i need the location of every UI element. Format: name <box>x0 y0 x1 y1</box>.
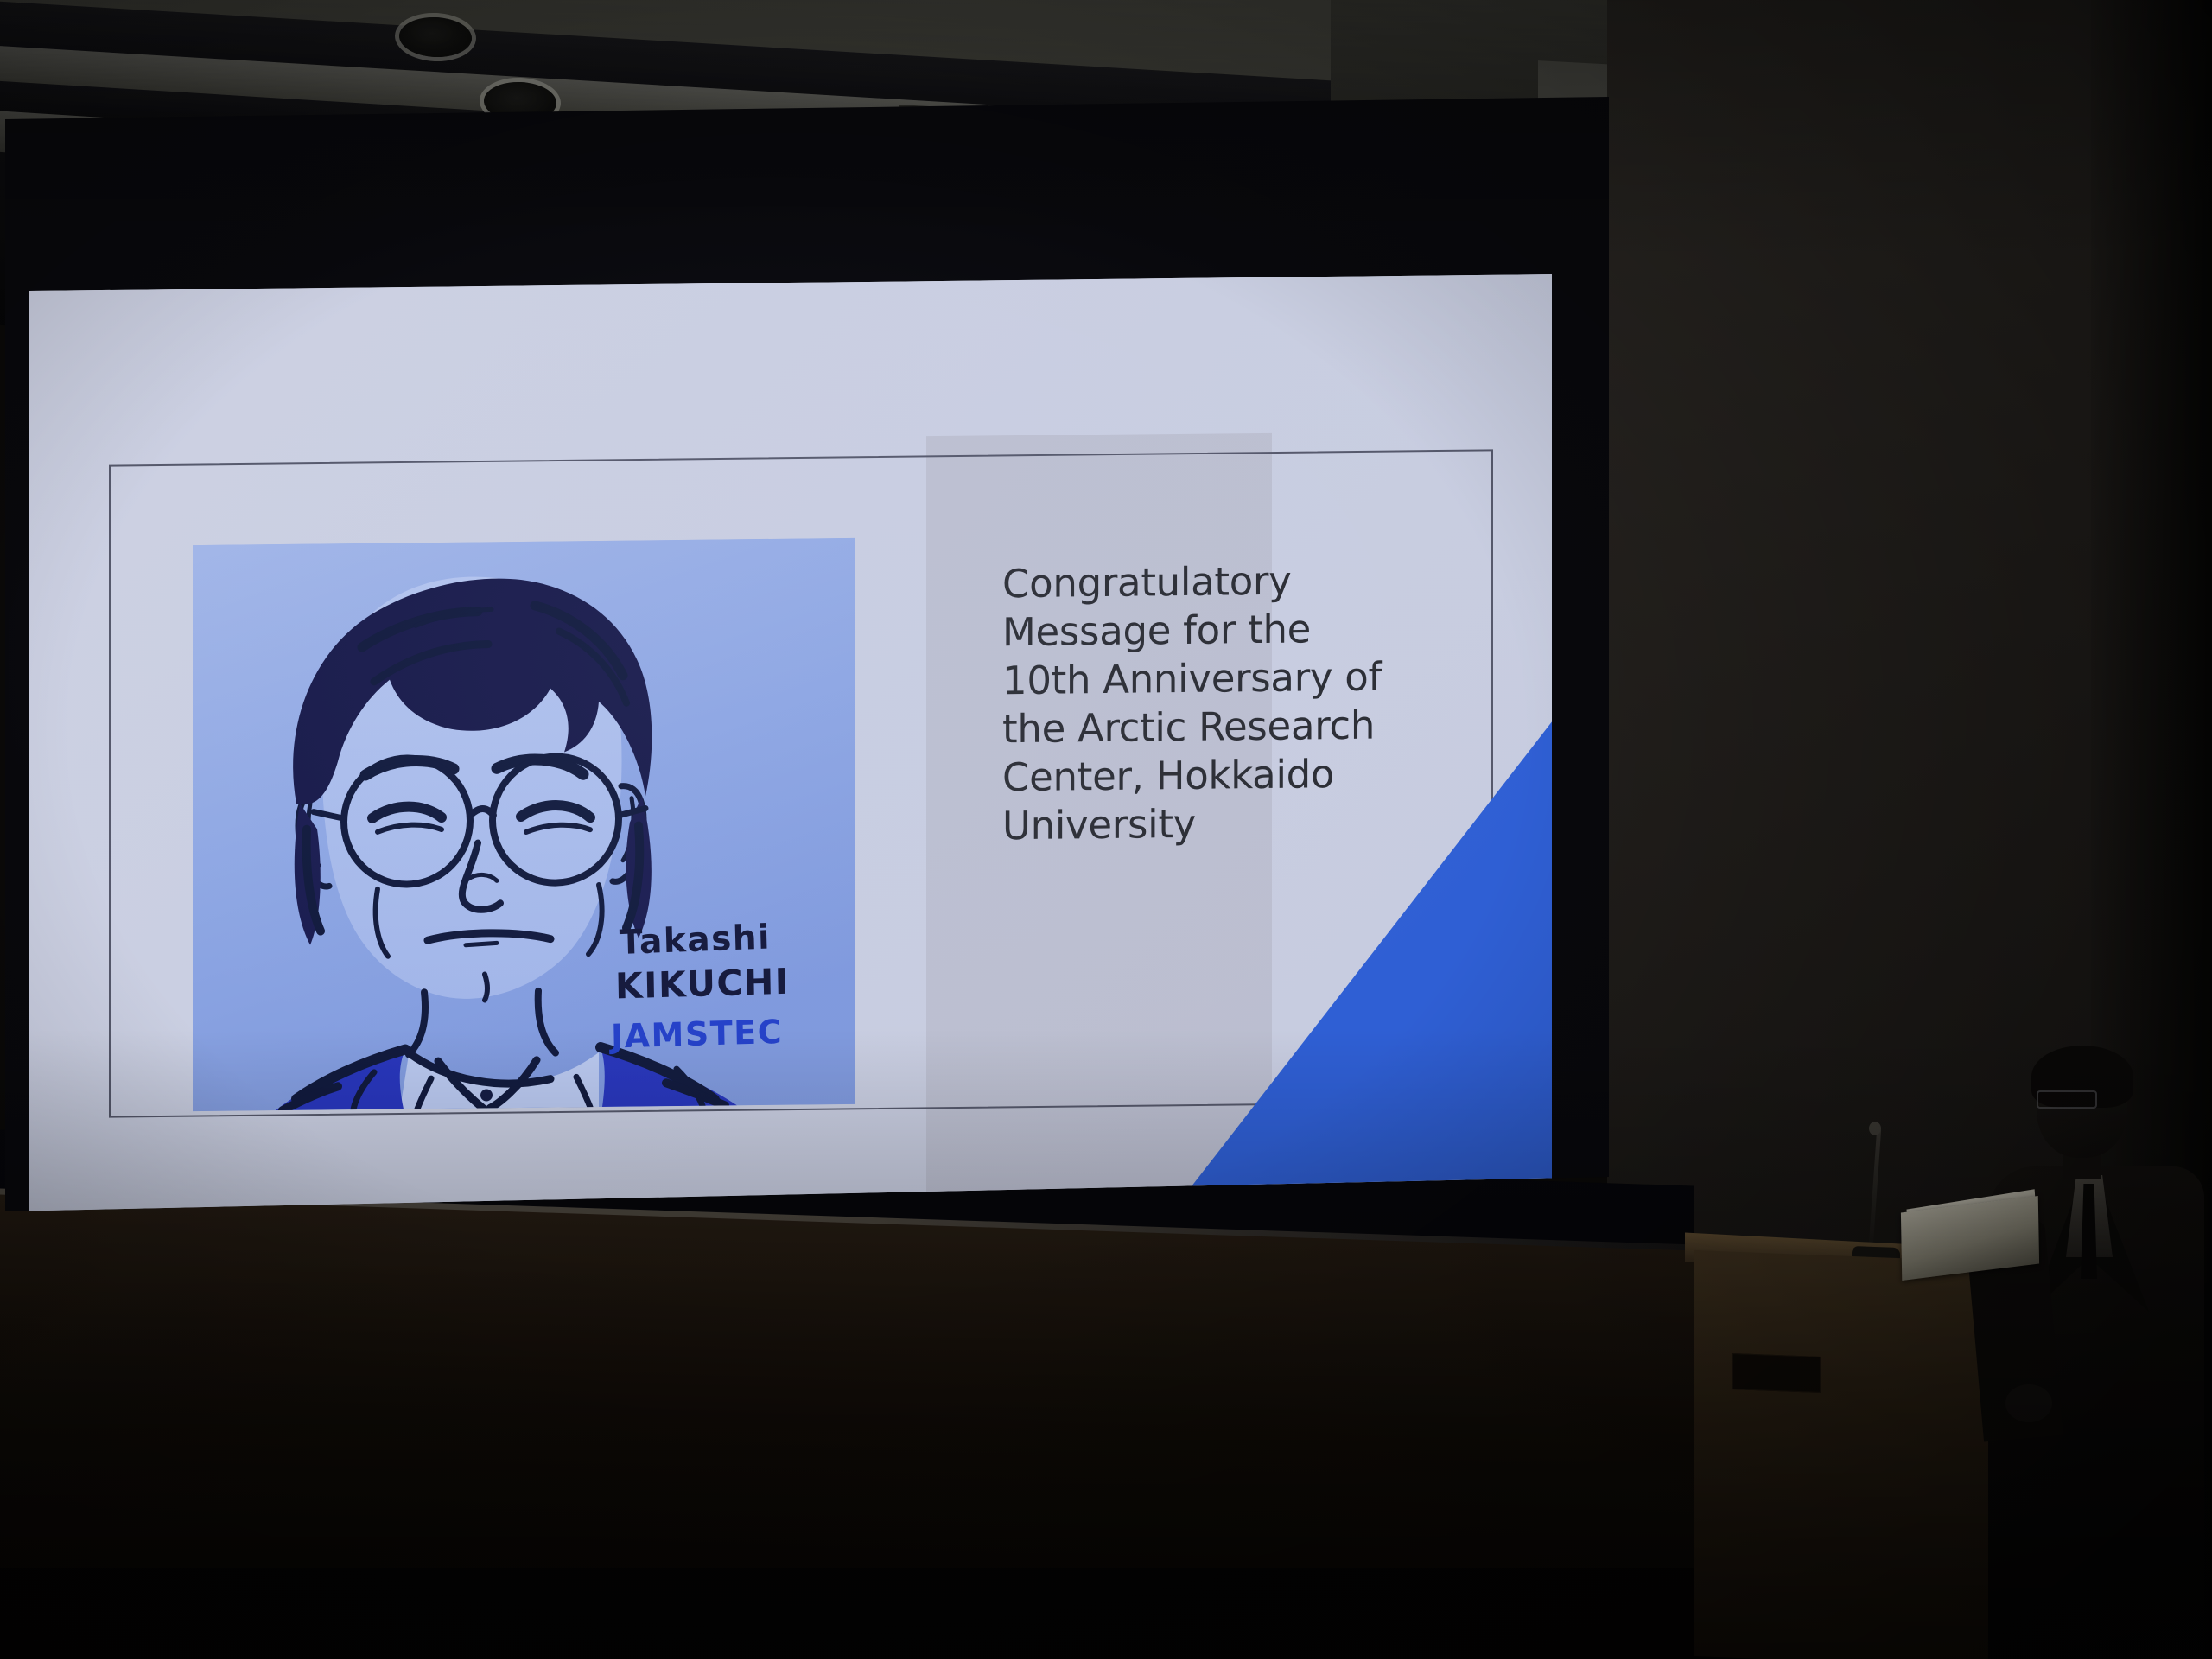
caption-organization: JAMSTEC <box>611 1013 784 1056</box>
caption-first-name: Takashi <box>619 918 771 963</box>
lecture-hall-scene: Takashi KIKUCHI JAMSTEC Congratulatory M… <box>0 0 2212 1659</box>
glasses-icon <box>2037 1090 2097 1109</box>
title-line: Congratulatory <box>1002 555 1521 608</box>
podium-name-plate <box>1732 1353 1821 1393</box>
floor <box>0 1568 1901 1659</box>
title-line: 10th Anniversary of <box>1002 652 1521 705</box>
title-line: the Arctic Research <box>1002 700 1521 753</box>
caption-last-name: KIKUCHI <box>615 961 790 1007</box>
title-line: University <box>1002 797 1521 850</box>
projection-screen-bezel: Takashi KIKUCHI JAMSTEC Congratulatory M… <box>5 97 1609 1211</box>
microphone-icon <box>1869 1122 1881 1135</box>
title-line: Message for the <box>1002 603 1521 657</box>
portrait-caption: Takashi KIKUCHI JAMSTEC <box>613 913 898 1116</box>
projected-slide: Takashi KIKUCHI JAMSTEC Congratulatory M… <box>29 274 1552 1263</box>
presenter <box>1983 1046 2212 1659</box>
title-line: Center, Hokkaido <box>1002 748 1521 802</box>
presenter-hand <box>2005 1384 2052 1422</box>
slide-title: Congratulatory Message for the 10th Anni… <box>1002 555 1521 850</box>
